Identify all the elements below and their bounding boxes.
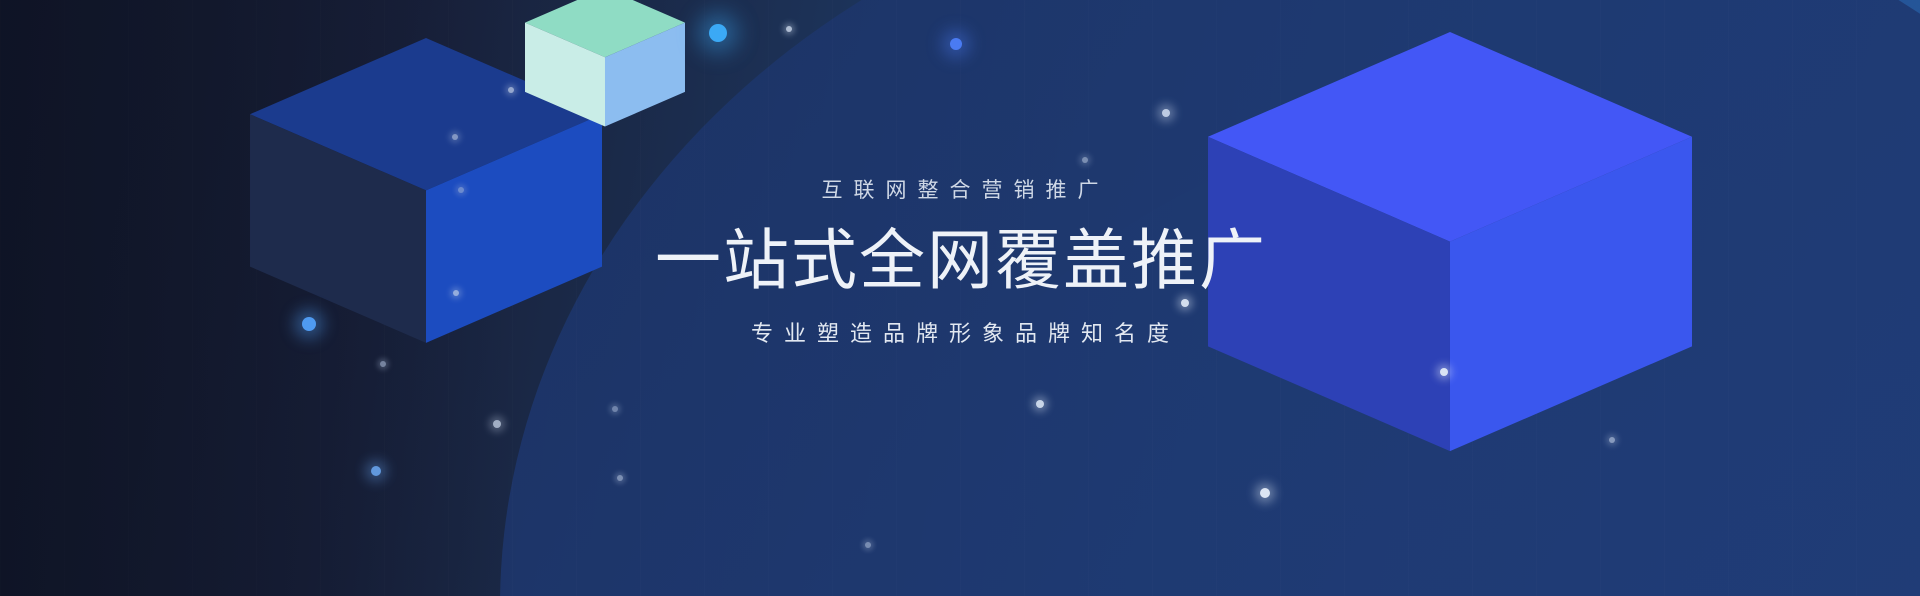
particle-dot [709, 24, 727, 42]
banner-copy: 互联网整合营销推广 一站式全网覆盖推广 专业塑造品牌形象品牌知名度 [0, 180, 1920, 345]
particle-dot [1162, 109, 1170, 117]
banner-headline: 一站式全网覆盖推广 [0, 227, 1920, 293]
particle-dot [493, 420, 501, 428]
banner-eyebrow: 互联网整合营销推广 [0, 180, 1920, 201]
particle-dot [380, 361, 386, 367]
cube-mint-small [525, 0, 685, 127]
particle-dot [950, 38, 962, 50]
particle-dot [1440, 368, 1448, 376]
particle-dot [1609, 437, 1615, 443]
hero-banner: 互联网整合营销推广 一站式全网覆盖推广 专业塑造品牌形象品牌知名度 [0, 0, 1920, 596]
particle-dot [617, 475, 623, 481]
particle-dot [371, 466, 381, 476]
particle-dot [1036, 400, 1044, 408]
particle-dot [508, 87, 514, 93]
particle-dot [1082, 157, 1088, 163]
particle-dot [452, 134, 458, 140]
particle-dot [865, 542, 871, 548]
particle-dot [786, 26, 792, 32]
particle-dot [1260, 488, 1270, 498]
particle-dot [612, 406, 618, 412]
banner-subline: 专业塑造品牌形象品牌知名度 [0, 323, 1920, 345]
